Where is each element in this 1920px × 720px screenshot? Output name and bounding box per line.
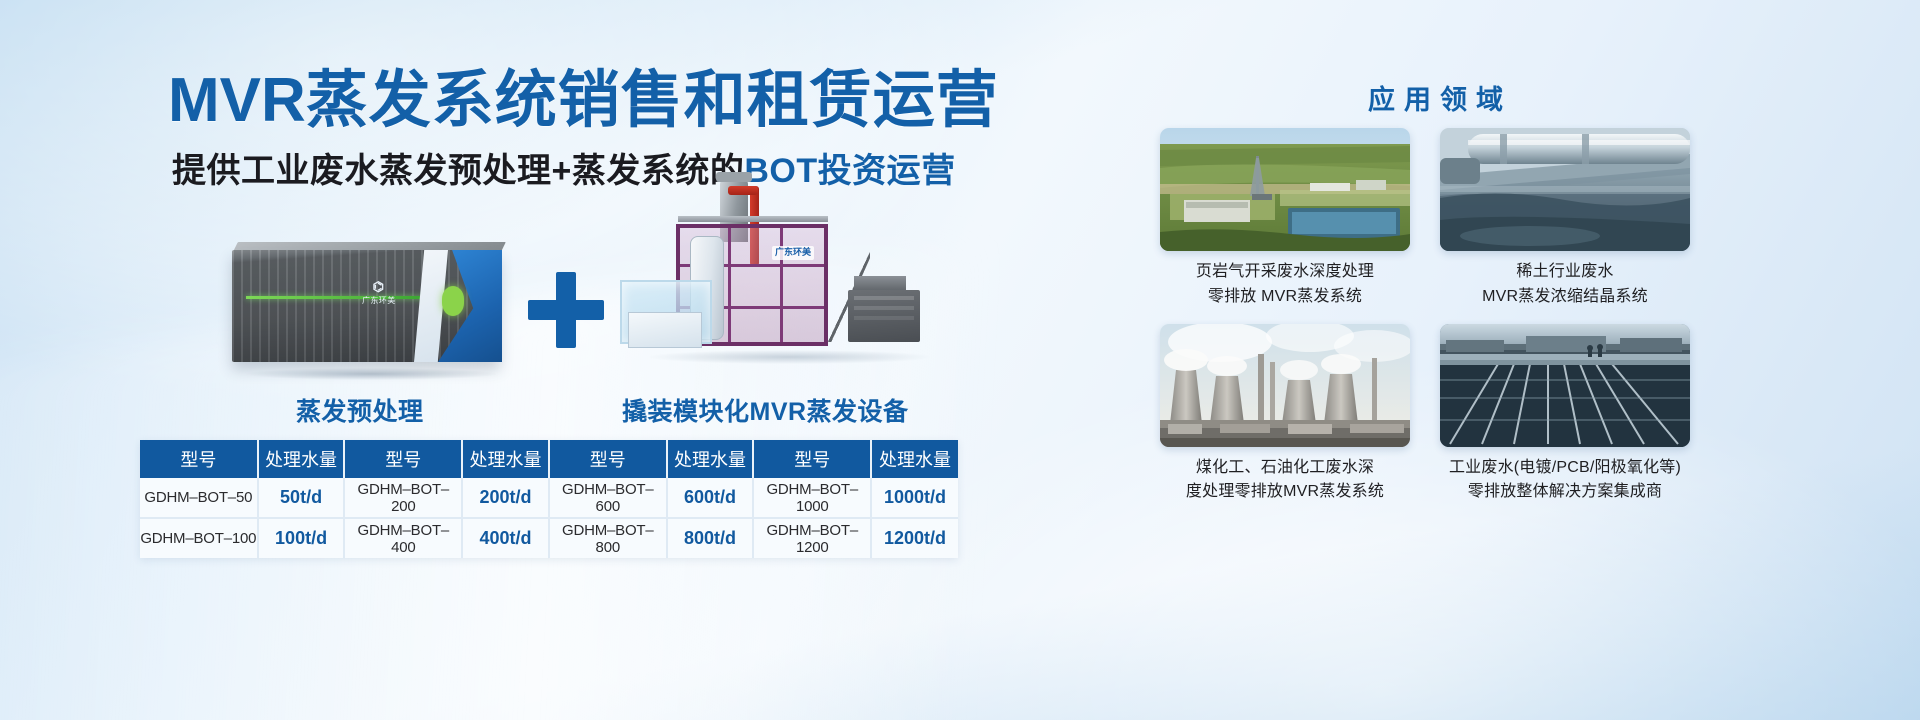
mvr-control-cabinet	[848, 290, 920, 342]
title-block: MVR蒸发系统销售和租赁运营 提供工业废水蒸发预处理+蒸发系统的BOT投资运营	[168, 68, 999, 192]
model-cell: GDHM–BOT–800	[549, 518, 667, 558]
capacity-cell: 600t/d	[667, 478, 754, 518]
mvr-frame-column	[728, 228, 731, 342]
card-caption-line2: 度处理零排放MVR蒸发系统	[1160, 480, 1410, 505]
card-caption-line1: 稀土行业废水	[1440, 260, 1690, 285]
table-header-cell: 型号	[753, 440, 871, 478]
application-card[interactable]: 煤化工、石油化工废水深 度处理零排放MVR蒸发系统	[1160, 324, 1410, 506]
application-fields-heading: 应用领域	[1160, 78, 1720, 117]
mvr-ground-shadow	[650, 350, 930, 364]
card-caption-line1: 工业废水(电镀/PCB/阳极氧化等)	[1440, 456, 1690, 481]
card-caption-line2: MVR蒸发浓缩结晶系统	[1440, 285, 1690, 310]
application-card[interactable]: 工业废水(电镀/PCB/阳极氧化等) 零排放整体解决方案集成商	[1440, 324, 1690, 506]
table-header-cell: 处理水量	[871, 440, 958, 478]
page-title-latin: MVR	[168, 66, 306, 135]
application-card[interactable]: 页岩气开采废水深度处理 零排放 MVR蒸发系统	[1160, 128, 1410, 310]
card-caption-line2: 零排放整体解决方案集成商	[1440, 480, 1690, 505]
table-row: GDHM–BOT–50 50t/d GDHM–BOT–200 200t/d GD…	[140, 478, 958, 518]
table-header-cell: 处理水量	[462, 440, 549, 478]
rare-earth-pipeline-photo	[1440, 128, 1690, 251]
application-cards-grid: 页岩气开采废水深度处理 零排放 MVR蒸发系统	[1160, 128, 1740, 505]
capacity-cell: 200t/d	[462, 478, 549, 518]
shale-gas-field-photo	[1160, 128, 1410, 251]
card-caption: 煤化工、石油化工废水深 度处理零排放MVR蒸发系统	[1160, 456, 1410, 506]
capacity-cell: 1200t/d	[871, 518, 958, 558]
model-cell: GDHM–BOT–1000	[753, 478, 871, 518]
card-caption-line1: 煤化工、石油化工废水深	[1160, 456, 1410, 481]
model-capacity-table: 型号 处理水量 型号 处理水量 型号 处理水量 型号 处理水量 GDHM–BOT…	[140, 440, 958, 558]
capacity-cell: 800t/d	[667, 518, 754, 558]
card-caption-line1: 页岩气开采废水深度处理	[1160, 260, 1410, 285]
product-caption-pretreatment: 蒸发预处理	[296, 392, 424, 428]
capacity-cell: 400t/d	[462, 518, 549, 558]
model-cell: GDHM–BOT–50	[140, 478, 258, 518]
table-row: GDHM–BOT–100 100t/d GDHM–BOT–400 400t/d …	[140, 518, 958, 558]
page-title: MVR蒸发系统销售和租赁运营	[168, 68, 999, 133]
container-body: ⌬广东环美	[232, 250, 500, 362]
skid-mounted-mvr-evaporator-image: 广东环美	[620, 180, 960, 392]
hero-left-column: MVR蒸发系统销售和租赁运营 提供工业废水蒸发预处理+蒸发系统的BOT投资运营 …	[0, 0, 1160, 720]
application-card[interactable]: 稀土行业废水 MVR蒸发浓缩结晶系统	[1440, 128, 1690, 310]
card-caption: 工业废水(电镀/PCB/阳极氧化等) 零排放整体解决方案集成商	[1440, 456, 1690, 506]
mvr-secondary-tank	[628, 312, 702, 348]
mvr-top-pipe-run	[678, 216, 828, 222]
container-brand-mark: ⌬广东环美	[362, 278, 396, 306]
mvr-brand-mark: 广东环美	[772, 246, 814, 260]
card-caption: 稀土行业废水 MVR蒸发浓缩结晶系统	[1440, 260, 1690, 310]
container-green-badge	[442, 286, 464, 316]
capacity-cell: 1000t/d	[871, 478, 958, 518]
container-green-accent-line	[246, 296, 432, 299]
table-header-cell: 型号	[344, 440, 462, 478]
evaporation-pretreatment-container-image: ⌬广东环美	[210, 228, 540, 388]
product-illustration-group: ⌬广东环美 广东环美	[150, 228, 1050, 428]
table-header-cell: 处理水量	[258, 440, 345, 478]
coal-chemical-cooling-towers-photo	[1160, 324, 1410, 447]
cabinet-louvers	[854, 296, 914, 300]
product-caption-mvr-equipment: 撬装模块化MVR蒸发设备	[622, 392, 909, 428]
industrial-wastewater-plant-photo	[1440, 324, 1690, 447]
table-header-cell: 处理水量	[667, 440, 754, 478]
model-cell: GDHM–BOT–100	[140, 518, 258, 558]
card-caption-line2: 零排放 MVR蒸发系统	[1160, 285, 1410, 310]
application-fields-column: 应用领域	[1160, 0, 1920, 720]
model-cell: GDHM–BOT–1200	[753, 518, 871, 558]
plus-symbol-icon	[528, 272, 604, 348]
container-ground-shadow	[246, 368, 496, 380]
card-caption: 页岩气开采废水深度处理 零排放 MVR蒸发系统	[1160, 260, 1410, 310]
capacity-cell: 100t/d	[258, 518, 345, 558]
table-header-row: 型号 处理水量 型号 处理水量 型号 处理水量 型号 处理水量	[140, 440, 958, 478]
model-cell: GDHM–BOT–600	[549, 478, 667, 518]
page-title-chinese: 蒸发系统销售和租赁运营	[306, 66, 999, 135]
capacity-cell: 50t/d	[258, 478, 345, 518]
model-cell: GDHM–BOT–400	[344, 518, 462, 558]
model-cell: GDHM–BOT–200	[344, 478, 462, 518]
table-header-cell: 型号	[140, 440, 258, 478]
table-header-cell: 型号	[549, 440, 667, 478]
